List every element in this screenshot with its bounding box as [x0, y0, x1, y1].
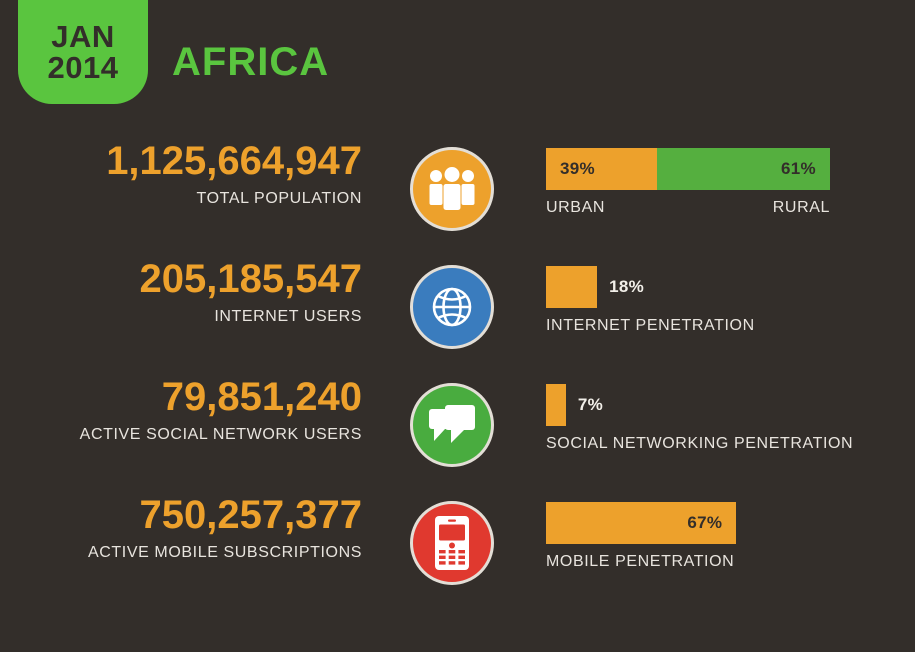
bar-labels: SOCIAL NETWORKING PENETRATION [546, 435, 830, 453]
mobile-phone-icon [410, 501, 494, 585]
mobile-penetration-value: 67% [687, 513, 736, 533]
stat-value: 79,851,240 [0, 374, 362, 420]
internet-penetration-value: 18% [609, 266, 644, 308]
bar-area: 39% 61% URBAN RURAL [546, 148, 830, 217]
stat-row-internet-users: 205,185,547 INTERNET USERS 18% INTERNET … [0, 248, 915, 366]
urban-label: URBAN [546, 199, 605, 217]
urban-segment: 39% [546, 148, 657, 190]
urban-rural-bar: 39% 61% [546, 148, 830, 190]
stat-value: 1,125,664,947 [0, 138, 362, 184]
mobile-penetration-bar: 67% [546, 502, 830, 544]
internet-penetration-bar: 18% [546, 266, 830, 308]
bar-labels: URBAN RURAL [546, 199, 830, 217]
stat-row-total-population: 1,125,664,947 TOTAL POPULATION 39% 61% U… [0, 130, 915, 248]
stat-block: 750,257,377 ACTIVE MOBILE SUBSCRIPTIONS [0, 492, 362, 564]
stat-label: INTERNET USERS [0, 306, 362, 328]
stat-block: 205,185,547 INTERNET USERS [0, 256, 362, 328]
stat-block: 1,125,664,947 TOTAL POPULATION [0, 138, 362, 210]
internet-penetration-fill [546, 266, 597, 308]
bar-labels: MOBILE PENETRATION [546, 553, 830, 571]
page-title: AFRICA [172, 40, 329, 84]
date-badge: JAN 2014 [18, 0, 148, 104]
bar-labels: INTERNET PENETRATION [546, 317, 830, 335]
bar-area: 67% MOBILE PENETRATION [546, 502, 830, 571]
social-penetration-value: 7% [578, 384, 603, 426]
stat-block: 79,851,240 ACTIVE SOCIAL NETWORK USERS [0, 374, 362, 446]
stat-label: ACTIVE MOBILE SUBSCRIPTIONS [0, 542, 362, 564]
social-penetration-label: SOCIAL NETWORKING PENETRATION [546, 435, 853, 453]
stat-value: 205,185,547 [0, 256, 362, 302]
bar-area: 18% INTERNET PENETRATION [546, 266, 830, 335]
stat-label: ACTIVE SOCIAL NETWORK USERS [0, 424, 362, 446]
social-penetration-fill [546, 384, 566, 426]
stat-row-mobile-subscriptions: 750,257,377 ACTIVE MOBILE SUBSCRIPTIONS [0, 484, 915, 602]
date-month: JAN [51, 21, 115, 52]
stat-label: TOTAL POPULATION [0, 188, 362, 210]
urban-value: 39% [546, 159, 595, 179]
chat-icon [410, 383, 494, 467]
social-penetration-bar: 7% [546, 384, 830, 426]
mobile-penetration-label: MOBILE PENETRATION [546, 553, 734, 571]
people-icon [410, 147, 494, 231]
rural-label: RURAL [773, 199, 830, 217]
internet-penetration-label: INTERNET PENETRATION [546, 317, 755, 335]
globe-icon [410, 265, 494, 349]
stat-value: 750,257,377 [0, 492, 362, 538]
mobile-penetration-fill: 67% [546, 502, 736, 544]
date-year: 2014 [48, 52, 119, 83]
rural-segment: 61% [657, 148, 830, 190]
bar-area: 7% SOCIAL NETWORKING PENETRATION [546, 384, 830, 453]
header: JAN 2014 AFRICA [0, 0, 915, 120]
stat-row-social-network-users: 79,851,240 ACTIVE SOCIAL NETWORK USERS 7… [0, 366, 915, 484]
rural-value: 61% [781, 159, 830, 179]
